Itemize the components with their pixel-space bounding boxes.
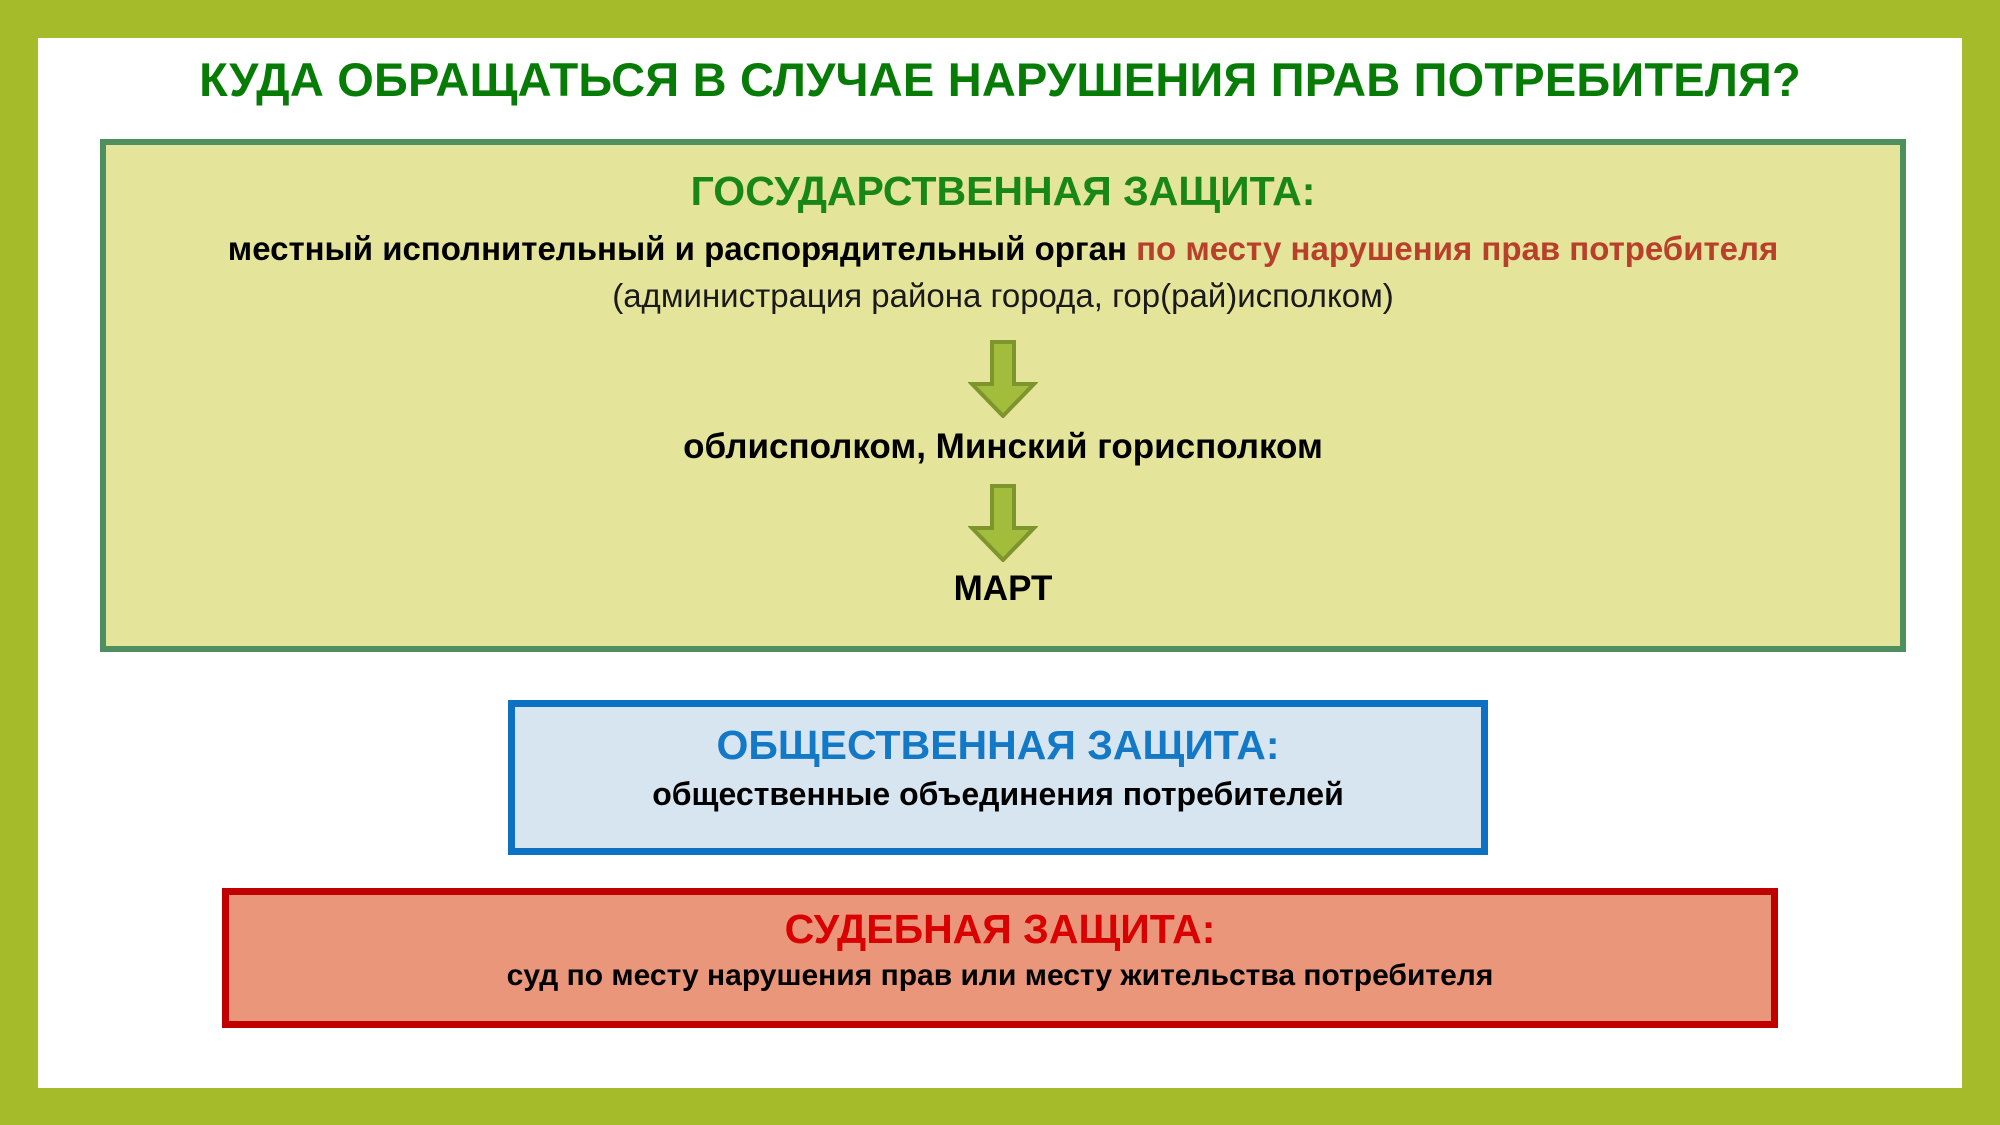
- arrow-1-wrap: [106, 340, 1900, 418]
- section-judicial-protection: СУДЕБНАЯ ЗАЩИТА: суд по месту нарушения …: [222, 888, 1778, 1028]
- state-body-part2: (администрация района города, гор(рай)ис…: [612, 277, 1394, 314]
- public-protection-heading: ОБЩЕСТВЕННАЯ ЗАЩИТА:: [515, 721, 1481, 770]
- state-protection-heading: ГОСУДАРСТВЕННАЯ ЗАЩИТА:: [106, 167, 1900, 216]
- state-protection-body: местный исполнительный и распорядительны…: [106, 226, 1900, 320]
- section-state-protection: ГОСУДАРСТВЕННАЯ ЗАЩИТА: местный исполнит…: [100, 139, 1906, 652]
- state-chain-step-2: МАРТ: [106, 568, 1900, 610]
- state-body-part1: местный исполнительный и распорядительны…: [228, 230, 1136, 267]
- state-body-accent: по месту нарушения прав потребителя: [1136, 230, 1778, 267]
- page-title: КУДА ОБРАЩАТЬСЯ В СЛУЧАЕ НАРУШЕНИЯ ПРАВ …: [38, 54, 1962, 106]
- arrow-down-icon: [968, 484, 1038, 562]
- state-chain-step-1: облисполком, Минский горисполком: [106, 426, 1900, 468]
- arrow-2-wrap: [106, 484, 1900, 562]
- section-public-protection: ОБЩЕСТВЕННАЯ ЗАЩИТА: общественные объеди…: [508, 700, 1488, 855]
- judicial-protection-heading: СУДЕБНАЯ ЗАЩИТА:: [229, 905, 1771, 954]
- poster-canvas: КУДА ОБРАЩАТЬСЯ В СЛУЧАЕ НАРУШЕНИЯ ПРАВ …: [38, 38, 1962, 1088]
- arrow-down-icon: [968, 340, 1038, 418]
- public-protection-body: общественные объединения потребителей: [515, 774, 1481, 816]
- judicial-protection-body: суд по месту нарушения прав или месту жи…: [229, 956, 1771, 995]
- poster-root: КУДА ОБРАЩАТЬСЯ В СЛУЧАЕ НАРУШЕНИЯ ПРАВ …: [0, 0, 2000, 1125]
